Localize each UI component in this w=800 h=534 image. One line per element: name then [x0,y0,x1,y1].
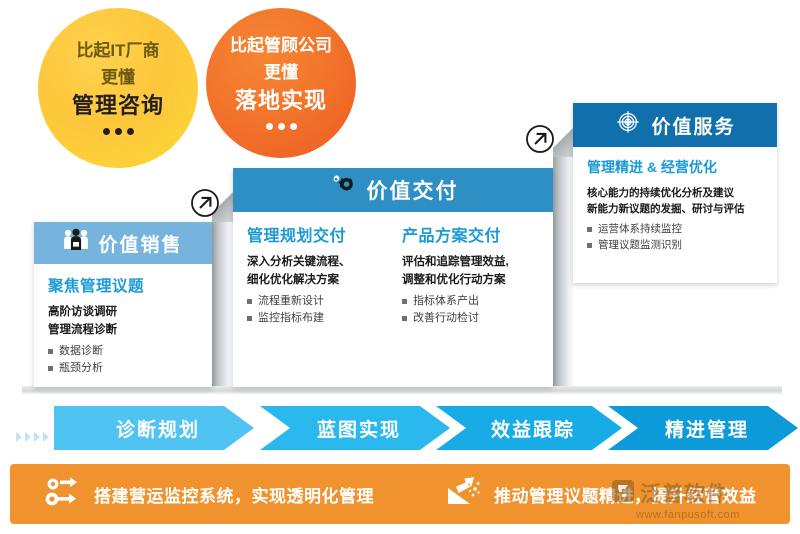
circle-yellow-line3: 管理咨询 [72,93,164,118]
circle-consulting-firm: 比起管顾公司 更懂 落地实现 [206,8,356,158]
card-delivery-body: 管理规划交付 深入分析关键流程、 细化优化解决方案 流程重新设计 监控指标布建 … [233,212,553,335]
circle-orange-line2: 更懂 [264,63,298,83]
people-group-icon [63,228,89,258]
step-riser-2 [553,121,575,387]
card-delivery-col1-lead-line-2: 细化优化解决方案 [247,272,384,290]
lead-chevrons-icon [16,432,49,442]
card-delivery-col2-bullets: 指标体系产出 改善行动检讨 [402,293,539,327]
circle-orange-line3: 落地实现 [235,88,327,113]
card-service-header: 价值服务 [573,103,777,147]
card-delivery-col1-lead: 深入分析关键流程、 细化优化解决方案 [247,254,384,290]
list-item: 监控指标布建 [247,310,384,327]
process-step-1-label: 诊断规划 [116,415,200,442]
card-sales-lead: 高阶访谈调研 管理流程诊断 [48,304,198,340]
process-step-3[interactable]: 效益跟踪 [436,406,622,450]
process-chevron-bar: 诊断规划 蓝图实现 效益跟踪 精进管理 [16,406,786,450]
card-service-body: 管理精进 & 经营优化 核心能力的持续优化分析及建议 新能力新议题的发掘、研讨与… [573,147,777,261]
process-step-1[interactable]: 诊断规划 [54,406,254,450]
circle-orange-line1: 比起管顾公司 [230,36,332,56]
process-step-4-label: 精进管理 [665,415,749,442]
list-item: 改善行动检讨 [402,310,539,327]
card-service-lead-line-1: 核心能力的持续优化分析及建议 [587,185,763,201]
arrow-up-right-icon [190,188,220,218]
card-delivery-column-plan: 管理规划交付 深入分析关键流程、 细化优化解决方案 流程重新设计 监控指标布建 [247,222,384,327]
card-delivery-col2-lead-line-1: 评估和追踪管理效益, [402,254,539,272]
card-delivery-col2-lead: 评估和追踪管理效益, 调整和优化行动方案 [402,254,539,290]
list-item: 瓶颈分析 [48,360,198,377]
card-value-sales[interactable]: 价值销售 聚焦管理议题 高阶访谈调研 管理流程诊断 数据诊断 瓶颈分析 [34,222,212,387]
process-step-2-label: 蓝图实现 [317,415,401,442]
card-service-lead-line-2: 新能力新议题的发掘、研讨与评估 [587,201,763,217]
card-service-bullets: 运营体系持续监控 管理议题监测识别 [587,221,763,254]
card-sales-body: 聚焦管理议题 高阶访谈调研 管理流程诊断 数据诊断 瓶颈分析 [34,264,212,385]
footer-item-operations-label: 搭建营运监控系统，实现透明化管理 [94,482,374,507]
process-step-4[interactable]: 精进管理 [608,406,798,450]
card-value-service[interactable]: 价值服务 管理精进 & 经营优化 核心能力的持续优化分析及建议 新能力新议题的发… [573,103,777,283]
card-delivery-col1-title: 管理规划交付 [247,222,384,246]
footer-item-improvement: 推动管理议题精进，提升经营效益 [444,475,757,514]
card-delivery-col2-lead-line-2: 调整和优化行动方案 [402,272,539,290]
infographic-canvas: 比起IT厂商 更懂 管理咨询 比起管顾公司 更懂 落地实现 [0,0,800,534]
footer-item-improvement-label: 推动管理议题精进，提升经营效益 [494,482,757,507]
card-sales-header: 价值销售 [34,222,212,264]
card-delivery-col2-title: 产品方案交付 [402,222,539,246]
card-delivery-header: 价值交付 [233,168,553,212]
card-service-title: 管理精进 & 经营优化 [587,157,763,177]
footer-banner: 搭建营运监控系统，实现透明化管理 推动管理议题精进， [10,464,790,524]
circle-yellow-line2: 更懂 [101,68,135,88]
floor-line [22,386,782,395]
gears-icon [328,174,358,206]
process-step-3-label: 效益跟踪 [491,415,575,442]
footer-item-operations: 搭建营运监控系统，实现透明化管理 [44,475,434,514]
radar-target-icon [614,109,642,141]
card-sales-lead-line-1: 高阶访谈调研 [48,304,198,322]
list-item: 流程重新设计 [247,293,384,310]
card-sales-bullets: 数据诊断 瓶颈分析 [48,343,198,377]
card-value-delivery[interactable]: 价值交付 管理规划交付 深入分析关键流程、 细化优化解决方案 流程重新设计 监控… [233,168,553,387]
arrow-up-right-icon [525,124,555,154]
card-delivery-col1-bullets: 流程重新设计 监控指标布建 [247,293,384,327]
card-service-lead: 核心能力的持续优化分析及建议 新能力新议题的发掘、研讨与评估 [587,185,763,218]
list-item: 管理议题监测识别 [587,237,763,253]
card-delivery-columns: 管理规划交付 深入分析关键流程、 细化优化解决方案 流程重新设计 监控指标布建 … [247,222,539,327]
card-sales-header-label: 价值销售 [98,230,182,257]
card-delivery-col1-lead-line-1: 深入分析关键流程、 [247,254,384,272]
circle-yellow-dots [103,128,134,135]
circle-orange-dots [266,123,297,130]
card-delivery-header-label: 价值交付 [367,175,459,205]
list-item: 数据诊断 [48,343,198,360]
circle-yellow-line1: 比起IT厂商 [76,41,159,61]
card-delivery-column-product: 产品方案交付 评估和追踪管理效益, 调整和优化行动方案 指标体系产出 改善行动检… [402,222,539,327]
list-item: 运营体系持续监控 [587,221,763,237]
growth-chart-icon [444,475,482,514]
gears-arrow-icon [44,475,82,514]
circle-it-vendor: 比起IT厂商 更懂 管理咨询 [38,8,198,168]
card-service-header-label: 价值服务 [651,112,735,139]
process-step-2[interactable]: 蓝图实现 [260,406,450,450]
card-sales-title: 聚焦管理议题 [48,274,198,296]
list-item: 指标体系产出 [402,293,539,310]
card-sales-lead-line-2: 管理流程诊断 [48,322,198,340]
